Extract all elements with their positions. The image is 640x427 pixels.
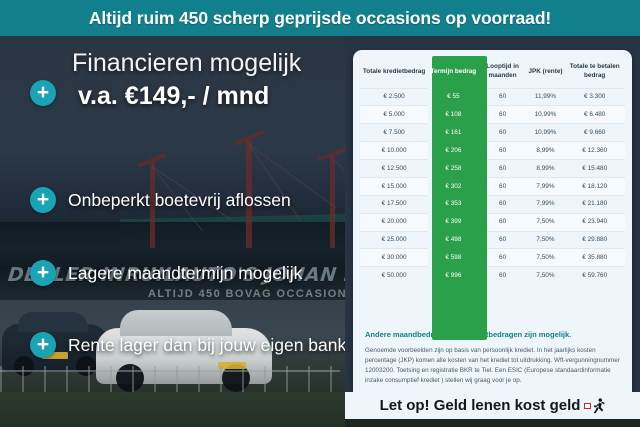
- table-row: € 10.000€ 206608,99%€ 12.360: [360, 142, 625, 160]
- cell-jpk: 10,99%: [527, 106, 565, 124]
- table-header-row: Totale kredietbedrag Termijn bedrag Loop…: [360, 56, 625, 88]
- plus-icon: +: [30, 332, 56, 358]
- cell-total-payable: € 12.360: [564, 142, 625, 160]
- advertisement-banner: DEALER INRUILAUTO'S JOHAN MEURS ALTIJD 4…: [0, 0, 640, 427]
- cell-total-payable: € 35.880: [564, 249, 625, 267]
- cell-total-credit: € 7.500: [360, 124, 428, 142]
- cell-total-payable: € 3.300: [564, 88, 625, 106]
- cell-total-credit: € 30.000: [360, 249, 428, 267]
- cell-term-amount: € 258: [428, 160, 478, 178]
- cell-total-credit: € 5.000: [360, 106, 428, 124]
- disclaimer-body: Genoemde voorbeelden zijn op basis van p…: [365, 346, 620, 387]
- table-row: € 25.000€ 498607,50%€ 29.880: [360, 231, 625, 249]
- cell-total-payable: € 59.760: [564, 267, 625, 284]
- promo-bullet-3: Rente lager dan bij jouw eigen bank: [68, 335, 346, 356]
- cell-term-amount: € 161: [428, 124, 478, 142]
- plus-icon: +: [30, 260, 56, 286]
- cell-term-amount: € 206: [428, 142, 478, 160]
- table-row: € 7.500€ 1616010,99%€ 9.660: [360, 124, 625, 142]
- cell-total-credit: € 17.500: [360, 195, 428, 213]
- cell-jpk: 8,99%: [527, 160, 565, 178]
- cell-total-payable: € 23.940: [564, 213, 625, 231]
- cell-term-amount: € 302: [428, 177, 478, 195]
- cell-term-amount: € 498: [428, 231, 478, 249]
- cell-total-credit: € 25.000: [360, 231, 428, 249]
- cell-term-amount: € 996: [428, 267, 478, 284]
- cell-term-amount: € 353: [428, 195, 478, 213]
- cell-term-amount: € 55: [428, 88, 478, 106]
- cell-jpk: 7,99%: [527, 195, 565, 213]
- column-header-total-credit: Totale kredietbedrag: [360, 56, 428, 88]
- table-row: € 17.500€ 353607,99%€ 21.180: [360, 195, 625, 213]
- running-man-icon: [584, 398, 605, 414]
- promo-bullet-1: Onbeperkt boetevrij aflossen: [68, 190, 291, 211]
- cell-total-credit: € 50.000: [360, 267, 428, 284]
- cell-term-amount: € 598: [428, 249, 478, 267]
- disclaimer-title: Andere maandbedragen en kredietbedragen …: [365, 330, 620, 340]
- cell-total-credit: € 15.000: [360, 177, 428, 195]
- cell-total-credit: € 12.500: [360, 160, 428, 178]
- finance-table-wrapper: Totale kredietbedrag Termijn bedrag Loop…: [353, 50, 632, 284]
- column-header-term-amount: Termijn bedrag: [428, 56, 478, 88]
- finance-table-body: € 2.500€ 556011,99%€ 3.300€ 5.000€ 10860…: [360, 88, 625, 284]
- finance-panel: Totale kredietbedrag Termijn bedrag Loop…: [345, 36, 640, 427]
- disclaimer-block: Andere maandbedragen en kredietbedragen …: [353, 330, 632, 387]
- cell-total-payable: € 9.660: [564, 124, 625, 142]
- plus-icon: +: [30, 187, 56, 213]
- top-banner: Altijd ruim 450 scherp geprijsde occasio…: [0, 0, 640, 36]
- cell-jpk: 10,99%: [527, 124, 565, 142]
- banner-headline: Altijd ruim 450 scherp geprijsde occasio…: [89, 8, 551, 29]
- warning-strip: Let op! Geld lenen kost geld: [345, 392, 640, 419]
- cell-total-credit: € 20.000: [360, 213, 428, 231]
- cell-total-payable: € 29.880: [564, 231, 625, 249]
- cell-jpk: 8,99%: [527, 142, 565, 160]
- cell-jpk: 7,50%: [527, 213, 565, 231]
- promo-bullet-2: Lagere maandtermijn mogelijk: [68, 263, 302, 284]
- cell-term-amount: € 399: [428, 213, 478, 231]
- finance-table-head: Totale kredietbedrag Termijn bedrag Loop…: [360, 56, 625, 88]
- cell-jpk: 7,50%: [527, 231, 565, 249]
- cell-jpk: 7,50%: [527, 267, 565, 284]
- cell-jpk: 11,99%: [527, 88, 565, 106]
- table-row: € 5.000€ 1086010,99%€ 6.480: [360, 106, 625, 124]
- warning-text: Let op! Geld lenen kost geld: [380, 397, 581, 414]
- cell-jpk: 7,50%: [527, 249, 565, 267]
- warning-box-icon: [584, 403, 591, 409]
- table-row: € 20.000€ 399607,50%€ 23.940: [360, 213, 625, 231]
- table-row: € 15.000€ 302607,99%€ 18.120: [360, 177, 625, 195]
- table-row: € 50.000€ 996607,50%€ 59.760: [360, 267, 625, 284]
- column-header-jpk: JPK (rente): [527, 56, 565, 88]
- finance-table: Totale kredietbedrag Termijn bedrag Loop…: [360, 56, 625, 284]
- cell-total-credit: € 10.000: [360, 142, 428, 160]
- promo-content: + Financieren mogelijk v.a. €149,- / mnd…: [0, 36, 345, 427]
- warning-strip-shadow: [345, 419, 640, 427]
- column-header-total-payable: Totale te betalen bedrag: [564, 56, 625, 88]
- plus-icon: +: [30, 80, 56, 106]
- runner-glyph: [592, 398, 605, 414]
- cell-total-payable: € 15.480: [564, 160, 625, 178]
- table-row: € 2.500€ 556011,99%€ 3.300: [360, 88, 625, 106]
- cell-total-credit: € 2.500: [360, 88, 428, 106]
- cell-jpk: 7,99%: [527, 177, 565, 195]
- finance-card: Totale kredietbedrag Termijn bedrag Loop…: [353, 50, 632, 413]
- cell-term-amount: € 108: [428, 106, 478, 124]
- table-row: € 30.000€ 598607,50%€ 35.880: [360, 249, 625, 267]
- promo-headline: Financieren mogelijk: [72, 50, 342, 78]
- table-row: € 12.500€ 258608,99%€ 15.480: [360, 160, 625, 178]
- cell-total-payable: € 6.480: [564, 106, 625, 124]
- cell-total-payable: € 18.120: [564, 177, 625, 195]
- cell-total-payable: € 21.180: [564, 195, 625, 213]
- promo-subheadline: v.a. €149,- / mnd: [78, 83, 340, 111]
